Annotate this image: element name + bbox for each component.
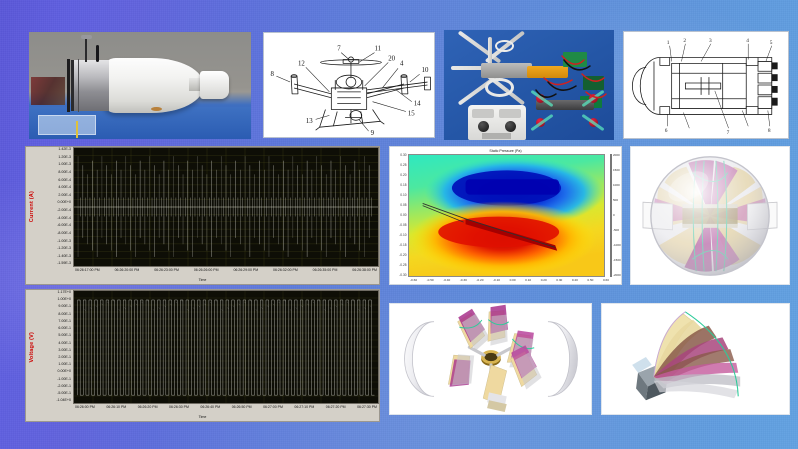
cfd-y-tick: -0.20 <box>399 254 406 257</box>
pen-object <box>76 121 78 138</box>
cfd-x-tick-labels: -0.60-0.50-0.40-0.30-0.20-0.100.000.100.… <box>390 277 621 284</box>
current-x-tick-labels: 06:26:17:00 PM06:26:20:00 PM06:26:23:00 … <box>73 267 379 278</box>
cfd-x-tick: -0.30 <box>460 278 467 282</box>
callout-20: 20 <box>388 55 395 62</box>
y-tick: -1.00E-1 <box>57 378 71 382</box>
section-callout-4: 4 <box>746 38 749 44</box>
y-tick: 8.00E-4 <box>58 171 71 175</box>
cfd-colorbar-tick: 1000 <box>613 184 621 187</box>
y-tick: -2.00E-1 <box>57 385 71 389</box>
exploded-render-frame <box>389 303 592 415</box>
x-tick: 06:26:17:00 PM <box>75 268 100 278</box>
cfd-colorbar-ticks: 2000150010005000-500-1000-1500-2000 <box>613 154 621 277</box>
y-tick: 2.00E-1 <box>58 356 71 360</box>
chart-current-vs-time: Current (A) 1.42E-31.20E-31.00E-38.00E-4… <box>25 146 380 285</box>
cfd-x-tick: 0.30 <box>556 278 562 282</box>
cfd-colorbar-tick: -1500 <box>613 259 621 262</box>
y-tick: 7.00E-1 <box>58 320 71 324</box>
glass-stand <box>38 115 96 134</box>
cfd-colorbar-tick: -500 <box>613 229 621 232</box>
current-x-axis-label: Time <box>26 278 379 284</box>
x-tick: 06:26:50 PM <box>232 405 252 415</box>
rc-transmitter <box>468 105 526 140</box>
transmitter-stick-left <box>478 121 489 132</box>
x-tick: 06:26:30 PM <box>169 405 189 415</box>
antenna-mount <box>81 35 92 39</box>
photo-cylindrical-payload-prototype <box>29 32 251 139</box>
cfd-colorbar-tick: 2000 <box>613 154 621 157</box>
cfd-x-tick: 0.00 <box>510 278 516 282</box>
cfd-y-tick: 0.30 <box>400 154 406 157</box>
cfd-x-tick: -0.60 <box>410 278 417 282</box>
callout-11: 11 <box>375 46 382 53</box>
y-tick: -5.00E-1 <box>57 392 71 396</box>
cfd-y-tick: 0.05 <box>400 204 406 207</box>
fan-render-svg <box>602 304 789 414</box>
y-tick: 0.00E+0 <box>58 370 72 374</box>
section-callout-1: 1 <box>667 40 670 46</box>
x-tick: 06:26:26:00 PM <box>194 268 219 278</box>
antenna-stub <box>96 45 99 62</box>
patent-drawing-capsule-cross-section: 1 2 3 4 5 6 7 8 <box>623 31 789 139</box>
photo-drone-hardware-assembly <box>444 30 614 140</box>
x-tick: 06:26:38:00 PM <box>352 268 377 278</box>
current-y-tick-labels: 1.42E-31.20E-31.00E-38.00E-46.00E-44.00E… <box>37 147 73 267</box>
capsule-photo-art <box>29 32 251 139</box>
callout-15: 15 <box>408 110 415 117</box>
cfd-frame: Static Pressure (Pa) 0.300.250.200.150.1… <box>389 146 622 285</box>
voltage-y-tick-labels: 1.17E+01.00E+09.00E-18.00E-17.00E-16.00E… <box>37 290 73 404</box>
cfd-pressure-contour-plot: Static Pressure (Pa) 0.300.250.200.150.1… <box>389 146 622 285</box>
cfd-colorbar-tick: 1500 <box>613 169 621 172</box>
cfd-x-tick: -0.20 <box>476 278 483 282</box>
callout-10: 10 <box>422 67 429 74</box>
capsule-ring-seal <box>67 59 70 113</box>
y-tick: 8.00E-1 <box>58 313 71 317</box>
y-tick: 6.00E-4 <box>58 179 71 183</box>
transmitter-panel <box>482 133 511 139</box>
y-tick: 1.20E-3 <box>58 156 71 160</box>
cfd-x-tick: -0.10 <box>493 278 500 282</box>
voltage-chart-frame: Voltage (V) 1.17E+01.00E+09.00E-18.00E-1… <box>25 289 380 422</box>
fan-render-frame <box>601 303 790 415</box>
x-tick: 06:27:10 PM <box>294 405 314 415</box>
cfd-contour-svg <box>409 155 604 276</box>
cfd-colorbar: 2000150010005000-500-1000-1500-2000 <box>610 154 619 277</box>
y-tick: -2.00E-4 <box>57 209 71 213</box>
callout-4: 4 <box>400 60 404 67</box>
sphere-render-svg <box>631 147 789 284</box>
cfd-colorbar-tick: 500 <box>613 199 621 202</box>
y-tick: -6.00E-4 <box>57 224 71 228</box>
cfd-y-tick: 0.10 <box>400 194 406 197</box>
x-tick: 06:26:20 PM <box>138 405 158 415</box>
y-tick: -1.00E-3 <box>57 240 71 244</box>
voltage-plot-area[interactable] <box>73 290 379 404</box>
x-tick: 06:26:35:00 PM <box>313 268 338 278</box>
cfd-y-tick: -0.10 <box>399 234 406 237</box>
voltage-x-tick-labels: 06:26:00 PM06:26:10 PM06:26:20 PM06:26:3… <box>73 404 379 415</box>
section-callout-8: 8 <box>768 128 771 134</box>
y-tick: 1.00E-3 <box>58 163 71 167</box>
callout-13: 13 <box>306 118 313 125</box>
y-tick: 0.00E+0 <box>58 201 72 205</box>
section-callout-7: 7 <box>727 130 730 136</box>
cfd-x-tick: 0.10 <box>525 278 531 282</box>
y-tick: 1.00E-1 <box>58 363 71 367</box>
cfd-colorbar-tick: -1000 <box>613 244 621 247</box>
y-tick: -1.04E+0 <box>56 399 71 403</box>
section-callout-2: 2 <box>683 38 686 44</box>
y-tick: 3.00E-1 <box>58 349 71 353</box>
cfd-x-tick: -0.50 <box>427 278 434 282</box>
cfd-colorbar-gradient <box>610 154 612 277</box>
cfd-x-tick: 0.50 <box>587 278 593 282</box>
cfd-y-tick: 0.15 <box>400 184 406 187</box>
callout-14: 14 <box>414 101 421 108</box>
y-tick: 1.17E+0 <box>58 291 72 295</box>
y-tick: -4.00E-4 <box>57 217 71 221</box>
y-tick: -1.59E-3 <box>57 262 71 266</box>
x-tick: 06:27:30 PM <box>357 405 377 415</box>
x-tick: 06:26:20:00 PM <box>115 268 140 278</box>
y-tick: 6.00E-1 <box>58 327 71 331</box>
cfd-y-tick: -0.05 <box>399 224 406 227</box>
cfd-x-tick: -0.40 <box>443 278 450 282</box>
cfd-x-tick: 0.20 <box>541 278 547 282</box>
voltage-y-axis-label-wrap: Voltage (V) <box>26 290 37 404</box>
cfd-y-tick: 0.20 <box>400 174 406 177</box>
x-tick: 06:26:10 PM <box>106 405 126 415</box>
x-tick: 06:27:20 PM <box>326 405 346 415</box>
voltage-y-axis-label: Voltage (V) <box>29 332 35 363</box>
y-tick: 1.42E-3 <box>58 148 71 152</box>
y-tick: -1.20E-3 <box>57 247 71 251</box>
x-tick: 06:26:40 PM <box>200 405 220 415</box>
chart-voltage-vs-time: Voltage (V) 1.17E+01.00E+09.00E-18.00E-1… <box>25 289 380 422</box>
wire-bundle <box>31 77 64 105</box>
section-callout-3: 3 <box>709 38 712 44</box>
y-tick: 5.00E-1 <box>58 334 71 338</box>
cfd-y-tick-labels: 0.300.250.200.150.100.050.00-0.05-0.10-0… <box>392 154 408 277</box>
transmitter-stick-right <box>505 121 516 132</box>
callout-7: 7 <box>337 46 341 53</box>
hardware-photo-art <box>444 30 614 140</box>
transmitter-display-2 <box>499 109 521 118</box>
y-tick: 4.00E-1 <box>58 342 71 346</box>
x-tick: 06:26:23:00 PM <box>154 268 179 278</box>
sphere-render-frame <box>630 146 790 285</box>
section-callout-6: 6 <box>665 128 668 134</box>
x-tick: 06:26:29:00 PM <box>233 268 258 278</box>
patent-drawing-quadcopter: 7 11 12 20 4 10 8 14 15 13 9 <box>263 32 435 138</box>
cfd-x-tick: 0.60 <box>603 278 609 282</box>
capsule-nose-cone <box>200 71 229 100</box>
current-chart-frame: Current (A) 1.42E-31.20E-31.00E-38.00E-4… <box>25 146 380 285</box>
y-tick: 4.00E-4 <box>58 186 71 190</box>
current-y-axis-label-wrap: Current (A) <box>26 147 37 267</box>
x-tick: 06:26:00 PM <box>75 405 95 415</box>
transmitter-display <box>472 109 494 118</box>
voltage-waveform <box>74 291 378 403</box>
callout-12: 12 <box>298 60 305 67</box>
section-callout-5: 5 <box>770 40 773 46</box>
cfd-y-tick: 0.00 <box>400 214 406 217</box>
capsule-metal-section <box>71 60 109 111</box>
cfd-colorbar-tick: 0 <box>613 214 621 217</box>
current-y-axis-label: Current (A) <box>29 191 35 222</box>
cfd-y-tick: 0.25 <box>400 164 406 167</box>
antenna-rod <box>85 38 88 62</box>
capsule-ring-seal-2 <box>78 59 80 113</box>
current-waveform <box>74 148 378 266</box>
cfd-y-tick: -0.15 <box>399 244 406 247</box>
voltage-x-axis-label: Time <box>26 415 379 421</box>
render-sphere-assembled <box>630 146 790 285</box>
cfd-y-tick: -0.25 <box>399 264 406 267</box>
callout-8: 8 <box>271 71 275 78</box>
x-tick: 06:27:00 PM <box>263 405 283 415</box>
y-tick: 2.00E-4 <box>58 194 71 198</box>
capsule-section-line-art: 1 2 3 4 5 6 7 8 <box>624 32 788 138</box>
callout-9: 9 <box>371 130 375 137</box>
render-deployable-fan-wing <box>601 303 790 415</box>
render-sphere-exploded-view <box>389 303 592 415</box>
quadcopter-line-art: 7 11 12 20 4 10 8 14 15 13 9 <box>264 33 434 137</box>
current-plot-area[interactable] <box>73 147 379 267</box>
cfd-contour-field[interactable] <box>408 154 605 277</box>
cfd-x-tick: 0.40 <box>572 278 578 282</box>
x-tick: 06:26:32:00 PM <box>273 268 298 278</box>
y-tick: -1.40E-3 <box>57 255 71 259</box>
y-tick: 9.00E-1 <box>58 305 71 309</box>
y-tick: -8.00E-4 <box>57 232 71 236</box>
y-tick: 1.00E+0 <box>58 298 72 302</box>
exploded-render-svg <box>390 304 591 414</box>
